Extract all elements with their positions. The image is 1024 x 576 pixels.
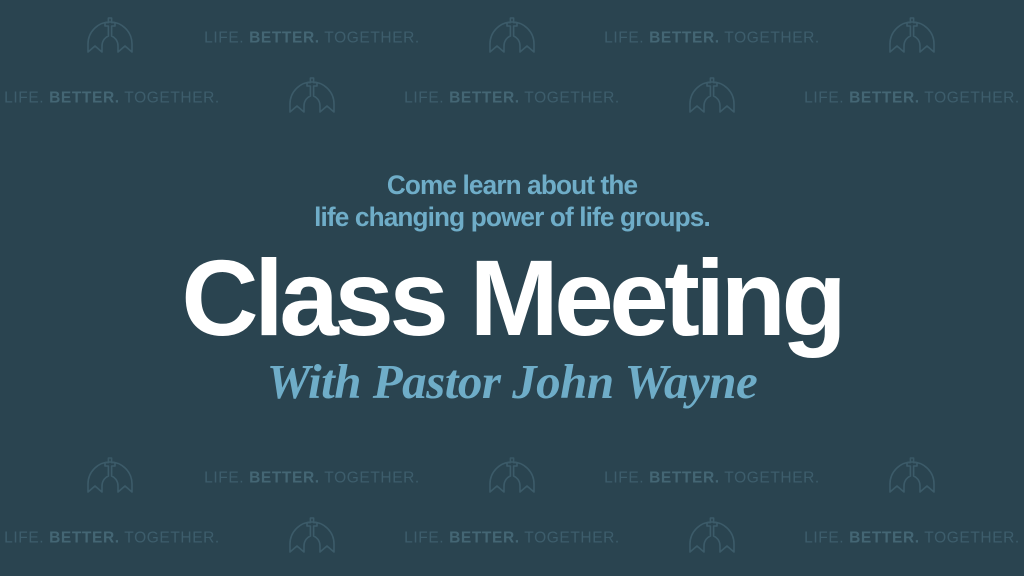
headline-title: Class Meeting — [181, 247, 842, 349]
kicker-text: Come learn about the life changing power… — [314, 170, 710, 233]
kicker-line-2: life changing power of life groups. — [314, 202, 710, 233]
slide-content: Come learn about the life changing power… — [0, 0, 1024, 576]
kicker-line-1: Come learn about the — [314, 170, 710, 201]
speaker-byline: With Pastor John Wayne — [267, 357, 757, 406]
slide-canvas: LIFE. BETTER. TOGETHER.LIFE. BETTER. TOG… — [0, 0, 1024, 576]
